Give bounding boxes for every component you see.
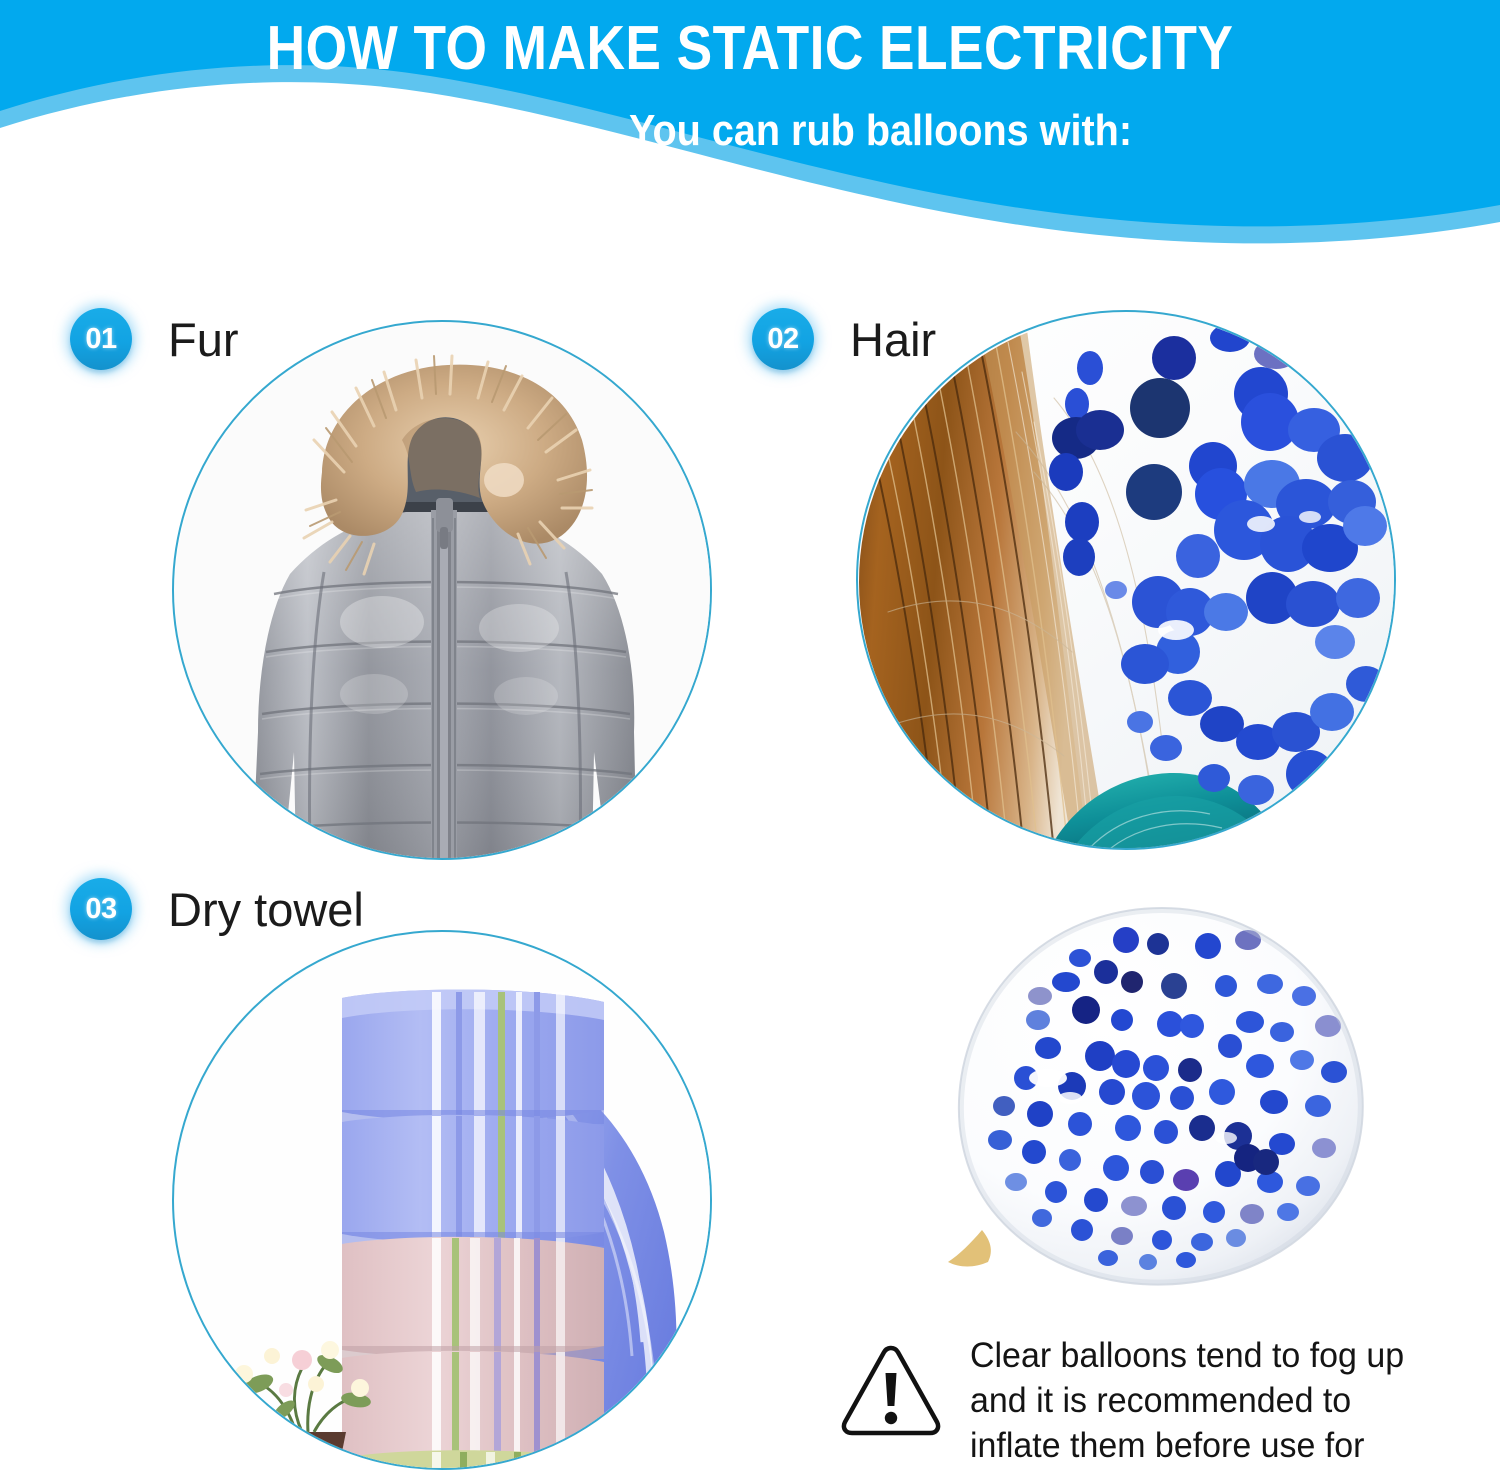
balloon-neck xyxy=(948,1230,991,1267)
towel-row-3 xyxy=(342,1237,604,1359)
step-badge-02: 02 xyxy=(752,308,814,370)
towel-row-1 xyxy=(342,989,604,1124)
item-label-dry-towel: 03 Dry towel xyxy=(70,878,364,940)
warning-note: Clear balloons tend to fog up and it is … xyxy=(838,1334,1438,1470)
photo-fur-jacket xyxy=(172,320,712,860)
step-badge-03: 03 xyxy=(70,878,132,940)
warning-text: Clear balloons tend to fog up and it is … xyxy=(970,1334,1424,1470)
item-title-fur: Fur xyxy=(168,316,239,363)
photo-fur-jacket-inner xyxy=(174,322,710,858)
step-number-02: 02 xyxy=(767,323,798,356)
confetti-balloon-illustration xyxy=(930,900,1400,1320)
item-label-hair: 02 Hair xyxy=(752,308,936,370)
fur-jacket-illustration xyxy=(174,322,710,858)
hair-balloon-illustration xyxy=(858,312,1394,848)
header-text-block: HOW TO MAKE STATIC ELECTRICITY You can r… xyxy=(0,0,1500,200)
towel-row-4 xyxy=(342,1351,604,1466)
photo-hair-balloon-inner xyxy=(858,312,1394,848)
infographic-page: HOW TO MAKE STATIC ELECTRICITY You can r… xyxy=(0,0,1500,1470)
page-title: HOW TO MAKE STATIC ELECTRICITY xyxy=(105,16,1395,81)
confetti-balloon xyxy=(930,900,1400,1320)
page-subtitle: You can rub balloons with: xyxy=(75,108,1425,154)
header-banner: HOW TO MAKE STATIC ELECTRICITY You can r… xyxy=(0,0,1500,250)
towel-row-2 xyxy=(342,1115,604,1246)
warning-triangle-icon xyxy=(838,1340,944,1436)
step-number-03: 03 xyxy=(85,893,116,926)
towels-illustration xyxy=(174,932,710,1468)
photo-dry-towels-inner xyxy=(174,932,710,1468)
step-number-01: 01 xyxy=(85,323,116,356)
step-badge-01: 01 xyxy=(70,308,132,370)
photo-dry-towels xyxy=(172,930,712,1470)
item-title-hair: Hair xyxy=(850,316,936,363)
item-label-fur: 01 Fur xyxy=(70,308,239,370)
photo-hair-balloon xyxy=(856,310,1396,850)
item-title-dry-towel: Dry towel xyxy=(168,886,364,933)
